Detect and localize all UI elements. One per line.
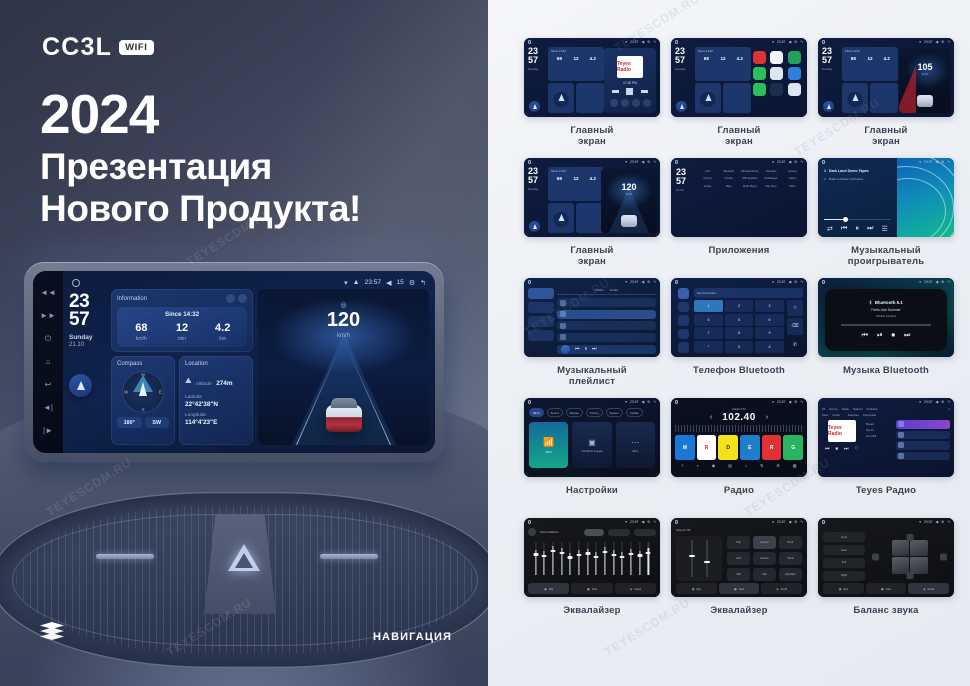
app-tile[interactable]: Maps (719, 183, 738, 188)
gallery-item[interactable]: 23 57 Sunday Since 14:32 68 12 4.2 (671, 38, 807, 158)
preset-button[interactable] (634, 529, 656, 536)
settings-tiles[interactable]: 📶 Wi-Fi ▣ Car Mirror Images ⋯ More (529, 422, 655, 468)
gallery-item[interactable]: 23 57 Sunday Since 14:32 68 12 4.2 (524, 158, 660, 278)
preset-rear[interactable]: Rear (823, 545, 865, 555)
subtab-favorites[interactable]: Favorites (848, 414, 859, 417)
thumbnail-bluetooth-phone[interactable]: Not Connected 1 2 3 4 5 6 7 (671, 278, 807, 357)
list-item[interactable] (557, 298, 656, 307)
compass-card[interactable]: Compass N E S W (111, 356, 175, 445)
eq-band[interactable] (584, 540, 591, 581)
chip-wifi[interactable]: Wi-Fi (529, 408, 544, 417)
gallery-item[interactable]: 23 57 Sunday Since 14:32 68 12 4.2 (818, 38, 954, 158)
phone-sidebar[interactable] (675, 288, 691, 353)
back-icon[interactable]: ↰ (653, 520, 656, 524)
tab-folder[interactable]: Folder (610, 288, 619, 292)
tab-all[interactable]: All (822, 408, 825, 411)
tab-podcasts[interactable]: Podcasts (867, 408, 878, 411)
gallery-item[interactable]: Tracks Folder ⏮ (524, 278, 660, 398)
app-tile[interactable]: Camera (783, 168, 802, 173)
next-station-icon[interactable]: › (766, 414, 768, 421)
list-item[interactable] (557, 333, 656, 342)
app-tile[interactable]: Radio (783, 183, 802, 188)
settings-icon[interactable]: ⚙ (776, 463, 780, 468)
playlist-tabs[interactable]: Tracks Folder (557, 288, 656, 295)
app-icon-contacts[interactable] (770, 67, 783, 80)
app-tile[interactable]: Gallery (783, 176, 802, 181)
app-tile[interactable]: DSP Equalizer (740, 176, 759, 181)
navigation-button[interactable] (69, 374, 92, 397)
call-icon[interactable]: ✆ (787, 337, 803, 353)
favorite-icon[interactable]: ☆ (787, 300, 803, 316)
tab-eq[interactable]: ◉EQ (676, 583, 717, 594)
back-icon[interactable]: ↰ (800, 400, 803, 404)
contacts-icon[interactable] (678, 302, 689, 313)
slider-treble[interactable] (706, 540, 708, 577)
balance-pad[interactable] (870, 532, 949, 581)
close-icon[interactable]: ✕ (948, 407, 950, 411)
tab-stations[interactable]: Stations (853, 408, 863, 411)
gallery-item[interactable]: Sound: Off Pop Classic Rock (671, 518, 807, 638)
search-icon[interactable]: ⌕ (697, 463, 699, 468)
gear-icon[interactable]: ⚙ (647, 160, 650, 164)
gallery-item[interactable]: 23 57 21.10 AUX Bluetooth Bluetooth Musi… (671, 158, 807, 278)
app-icon-spotify[interactable] (753, 67, 766, 80)
sidebar-item-favorite[interactable] (528, 316, 554, 327)
back-icon[interactable]: ↰ (800, 520, 803, 524)
tab-field[interactable]: ◈Field (761, 583, 802, 594)
eq-band[interactable] (627, 540, 634, 581)
preset-3[interactable]: D (718, 435, 738, 460)
gear-icon[interactable]: ⚙ (794, 400, 797, 404)
speaker-rear-left[interactable] (892, 557, 909, 573)
search-icon[interactable] (678, 315, 689, 326)
rail-key-seek-prev[interactable]: ◄| (43, 404, 53, 412)
playlist-icon[interactable]: ☰ (881, 225, 887, 233)
list-item[interactable] (896, 420, 950, 429)
app-icon-maps[interactable] (788, 51, 801, 64)
gallery-item[interactable]: 23 57 Sunday Since 14:32 68 12 4.2 (524, 38, 660, 158)
settings-icon[interactable] (678, 342, 689, 353)
gear-icon[interactable]: ⚙ (941, 40, 944, 44)
next-icon[interactable]: ⏭ (867, 225, 873, 233)
home-icon[interactable] (528, 520, 531, 523)
balance-up-button[interactable] (906, 534, 913, 541)
prev-icon[interactable]: ⏮ (825, 446, 830, 452)
preset-rock[interactable]: Rock (779, 536, 802, 549)
app-icon-settings[interactable] (770, 83, 783, 96)
back-icon[interactable]: ↰ (947, 520, 950, 524)
preset-grid[interactable]: Pop Classic Rock Jazz Custom Vocal Soft … (727, 536, 802, 581)
hardware-key-rail[interactable]: ◄◄ ►► ⏻ ⌂ ↩ ◄| |► (33, 271, 63, 453)
gear-icon[interactable]: ⚙ (794, 160, 797, 164)
back-icon[interactable]: ↰ (653, 160, 656, 164)
app-tile[interactable]: Chrome (698, 176, 717, 181)
prev-icon[interactable]: ⏮ (841, 225, 847, 233)
thumbnail-home-apps[interactable]: 23 57 Sunday Since 14:32 68 12 4.2 (671, 38, 807, 117)
balance-presets[interactable]: Front Rear Left Right (823, 532, 865, 581)
shortcut-3[interactable] (632, 99, 640, 107)
gear-icon[interactable]: ⚙ (794, 280, 797, 284)
speaker-quadrants[interactable] (892, 540, 928, 574)
shortcut-1[interactable] (610, 99, 618, 107)
back-icon[interactable]: ↰ (800, 280, 803, 284)
eq-band[interactable] (532, 540, 539, 581)
location-card[interactable]: Location ⛰ Altitude 274m (179, 356, 253, 445)
preset-2[interactable]: R (697, 435, 717, 460)
gallery-item[interactable]: 1 Dark Land Demo Tapes 2 Brahms Drake Or… (818, 158, 954, 278)
key-star[interactable]: * (694, 341, 723, 353)
thumbnail-bluetooth-music[interactable]: ᛒ Bluetooth 5.1 Feels Like Summer Childi… (818, 278, 954, 357)
list-icon[interactable]: ▦ (793, 463, 797, 468)
prev-icon[interactable]: ⏮ (862, 332, 868, 340)
teyes-controls[interactable]: ⏮ ⏹ ⏭ ♡ (822, 446, 862, 452)
equalizer-tabs[interactable]: ◉EQ ▣Fad ◈Field (823, 583, 949, 594)
chip-driving[interactable]: Driving (586, 408, 603, 417)
preset-left[interactable]: Left (823, 558, 865, 568)
preset-standard[interactable]: Standard (779, 568, 802, 581)
thumbnail-home-speed[interactable]: 23 57 Sunday Since 14:32 68 12 4.2 (524, 158, 660, 237)
stop-icon[interactable]: ⏹ (835, 446, 838, 452)
key-0[interactable]: 0 (725, 341, 754, 353)
thumbnail-settings[interactable]: Wi-Fi Sound Display Driving System Updat… (524, 398, 660, 477)
tile-wifi[interactable]: 📶 Wi-Fi (529, 422, 568, 468)
eq-band[interactable] (610, 540, 617, 581)
progress-knob[interactable] (843, 217, 848, 222)
preset-5[interactable]: R (762, 435, 782, 460)
eq-icon[interactable]: ⇅ (760, 463, 763, 468)
pause-icon[interactable]: ⏸ (585, 346, 588, 352)
rail-key-volume-down[interactable]: ◄◄ (40, 289, 56, 297)
chip-display[interactable]: Display (566, 408, 583, 417)
list-item[interactable] (557, 310, 656, 319)
stop-icon[interactable]: ⏹ (892, 332, 896, 340)
band-icon[interactable]: ≡ (681, 463, 683, 468)
rail-key-volume-up[interactable]: ►► (40, 312, 56, 320)
stop-icon[interactable] (626, 88, 633, 95)
thumbnail-playlist[interactable]: Tracks Folder ⏮ (524, 278, 660, 357)
save-button[interactable] (608, 529, 630, 536)
preset-soft[interactable]: Soft (727, 568, 750, 581)
mini-navigation-button[interactable] (529, 221, 540, 232)
now-playing-bar[interactable]: ⏮ ⏸ ⏭ (557, 345, 656, 354)
back-icon[interactable]: ↰ (653, 40, 656, 44)
app-icon-gallery[interactable] (770, 51, 783, 64)
tab-field[interactable]: ◈Field (908, 583, 949, 594)
key-3[interactable]: 3 (755, 300, 784, 312)
reset-button[interactable] (584, 529, 604, 536)
rail-key-home[interactable]: ⌂ (46, 358, 51, 366)
home-icon[interactable] (822, 280, 825, 283)
home-icon[interactable] (528, 280, 531, 283)
mini-navigation-button[interactable] (529, 101, 540, 112)
eq-band[interactable] (619, 540, 626, 581)
preset-pop[interactable]: Pop (727, 536, 750, 549)
playlist-sidebar[interactable] (528, 288, 554, 353)
back-icon[interactable]: ↰ (653, 280, 656, 284)
app-tile[interactable]: FileManager (762, 176, 781, 181)
eq-band[interactable] (567, 540, 574, 581)
preset-6[interactable]: G (783, 435, 803, 460)
gallery-item[interactable]: ᛒ Bluetooth 5.1 Feels Like Summer Childi… (818, 278, 954, 398)
layers-icon[interactable] (40, 622, 64, 642)
list-item[interactable] (557, 321, 656, 330)
speaker-rear-right[interactable] (910, 557, 927, 573)
app-icon-play-store[interactable] (753, 83, 766, 96)
rail-key-back[interactable]: ↩ (45, 381, 52, 389)
gear-icon[interactable]: ⚙ (647, 40, 650, 44)
next-icon[interactable]: ⏭ (592, 346, 597, 352)
app-tile[interactable]: Bluetooth Music (740, 168, 759, 173)
thumbnail-home-road[interactable]: 23 57 Sunday Since 14:32 68 12 4.2 (818, 38, 954, 117)
prev-station-icon[interactable]: ‹ (710, 414, 712, 421)
backspace-icon[interactable]: ⌫ (787, 318, 803, 334)
slider-bass[interactable] (691, 540, 693, 577)
volume-icon[interactable]: ◀ (386, 279, 391, 287)
key-6[interactable]: 6 (755, 314, 784, 326)
app-tile[interactable]: Play Store (762, 183, 781, 188)
subtab-likes[interactable]: Likes (822, 414, 828, 417)
preset-vocal[interactable]: Vocal (779, 552, 802, 565)
af-icon[interactable]: ◉ (712, 463, 716, 468)
media-controls[interactable] (608, 88, 652, 95)
prev-icon[interactable]: ⏮ (575, 346, 580, 352)
tab-fad[interactable]: ▣Fad (719, 583, 760, 594)
thumbnail-apps[interactable]: 23 57 21.10 AUX Bluetooth Bluetooth Musi… (671, 158, 807, 237)
mini-navigation-button[interactable] (823, 101, 834, 112)
home-icon[interactable] (822, 520, 825, 523)
eq-band[interactable] (558, 540, 565, 581)
prev-icon[interactable] (612, 90, 619, 92)
eq-band[interactable] (593, 540, 600, 581)
favorite-icon[interactable]: ♡ (854, 446, 858, 452)
preset-front[interactable]: Front (823, 532, 865, 542)
slider-knob[interactable] (689, 555, 695, 557)
key-hash[interactable]: # (755, 341, 784, 353)
equalizer-sliders[interactable] (528, 540, 656, 581)
dialpad-actions[interactable]: ☆ ⌫ ✆ (787, 300, 803, 353)
back-icon[interactable]: ↰ (653, 400, 656, 404)
tab-genres[interactable]: Genres (829, 408, 838, 411)
player-controls[interactable]: ⇄ ⏮ ⏸ ⏭ ☰ (823, 225, 892, 233)
radio-toolbar[interactable]: ≡ ⌕ ◉ ▤ ⌂ ⇅ ⚙ ▦ (675, 463, 803, 468)
tab-tracks[interactable]: Tracks (595, 288, 604, 292)
chip-update[interactable]: Update (626, 408, 643, 417)
subtab-downloads[interactable]: Downloads (863, 414, 876, 417)
home-icon[interactable] (675, 400, 678, 403)
mini-apps-widget[interactable] (750, 48, 804, 113)
thumbnail-equalizer-sliders[interactable]: Sound Effects (524, 518, 660, 597)
tab-eq[interactable]: ◉EQ (528, 583, 569, 594)
balance-down-button[interactable] (906, 572, 913, 579)
key-7[interactable]: 7 (694, 327, 723, 339)
eq-band[interactable] (541, 540, 548, 581)
app-tile[interactable]: Contact (719, 176, 738, 181)
home-icon[interactable] (675, 520, 678, 523)
home-icon[interactable] (528, 160, 531, 163)
preset-jazz[interactable]: Jazz (727, 552, 750, 565)
radio-tuner[interactable]: ‹ 102.40 › (675, 412, 803, 423)
app-tile[interactable]: Music Player (740, 183, 759, 188)
gear-icon[interactable]: ⚙ (794, 40, 797, 44)
preset-custom[interactable]: Custom (753, 552, 776, 565)
expand-icon[interactable] (238, 294, 247, 303)
teyes-station-list[interactable] (896, 420, 950, 460)
next-icon[interactable]: ⏭ (904, 332, 910, 340)
home-icon[interactable] (528, 400, 531, 403)
home-icon[interactable] (675, 40, 678, 43)
rail-key-seek-next[interactable]: |► (43, 427, 53, 435)
back-icon[interactable]: ↰ (947, 40, 950, 44)
eq-band[interactable] (645, 540, 652, 581)
call-history-icon[interactable] (678, 329, 689, 340)
shortcut-4[interactable] (643, 99, 651, 107)
key-5[interactable]: 5 (725, 314, 754, 326)
list-item[interactable] (896, 431, 950, 440)
bt-controls[interactable]: ⏮ ⏯ ⏹ ⏭ (862, 332, 911, 340)
balance-right-button[interactable] (940, 553, 947, 560)
app-icon-bluetooth[interactable] (788, 67, 801, 80)
shuffle-icon[interactable]: ⇄ (827, 225, 833, 233)
shortcut-2[interactable] (621, 99, 629, 107)
chip-sound[interactable]: Sound (547, 408, 563, 417)
list-item[interactable] (896, 452, 950, 461)
preset-classic[interactable]: Classic (753, 536, 776, 549)
thumbnail-sound-balance[interactable]: Front Rear Left Right (818, 518, 954, 597)
key-2[interactable]: 2 (725, 300, 754, 312)
play-pause-icon[interactable]: ⏯ (877, 332, 883, 340)
dialpad[interactable]: 1 2 3 4 5 6 7 8 9 * (694, 300, 784, 353)
bt-progress-slider[interactable] (841, 324, 931, 325)
playlist-rows[interactable] (557, 298, 656, 342)
back-icon[interactable]: ↰ (947, 160, 950, 164)
eq-band[interactable] (549, 540, 556, 581)
pause-icon[interactable]: ⏸ (855, 225, 859, 233)
app-tile[interactable]: Google (698, 183, 717, 188)
next-icon[interactable]: ⏭ (844, 446, 849, 452)
app-tile[interactable]: Calculator (762, 168, 781, 173)
progress-slider[interactable] (824, 219, 891, 220)
information-card[interactable]: Information Since 14:32 (111, 289, 253, 352)
speaker-front-right[interactable] (910, 540, 927, 556)
equalizer-tabs[interactable]: ◉EQ ▣Fad ◈Field (528, 583, 656, 594)
gear-icon[interactable]: ⚙ (941, 280, 944, 284)
next-icon[interactable] (641, 90, 648, 92)
fader-sliders[interactable] (676, 536, 722, 581)
key-4[interactable]: 4 (694, 314, 723, 326)
home-icon[interactable] (822, 160, 825, 163)
gear-icon[interactable]: ⚙ (647, 520, 650, 524)
preset-4[interactable]: E (740, 435, 760, 460)
key-9[interactable]: 9 (755, 327, 784, 339)
sidebar-item-tracks[interactable] (528, 288, 554, 299)
settings-chips[interactable]: Wi-Fi Sound Display Driving System Updat… (529, 408, 655, 417)
thumbnail-radio[interactable]: Radio FM ‹ 102.40 › M R D E R (671, 398, 807, 477)
list-item[interactable] (896, 441, 950, 450)
preset-1[interactable]: M (675, 435, 695, 460)
tab-radio[interactable]: Radio (842, 408, 849, 411)
tab-fad[interactable]: ▣Fad (866, 583, 907, 594)
balance-left-button[interactable] (872, 553, 879, 560)
head-unit-screen[interactable]: ◄◄ ►► ⏻ ⌂ ↩ ◄| |► ▾ ▲ (33, 271, 435, 453)
tab-fad[interactable]: ▣Fad (571, 583, 612, 594)
ta-icon[interactable]: ▤ (728, 463, 732, 468)
preset-flat[interactable]: Flat (753, 568, 776, 581)
home-icon[interactable] (675, 160, 678, 163)
apps-icon-grid[interactable]: AUX Bluetooth Bluetooth Music Calculator… (698, 168, 802, 233)
refresh-icon[interactable] (226, 294, 235, 303)
gear-icon[interactable]: ⚙ (647, 280, 650, 284)
thumbnail-music-player[interactable]: 1 Dark Land Demo Tapes 2 Brahms Drake Or… (818, 158, 954, 237)
gallery-item[interactable]: Sound Effects (524, 518, 660, 638)
home-icon[interactable] (822, 40, 825, 43)
gear-icon[interactable]: ⚙ (409, 279, 415, 287)
teyes-subtabs[interactable]: Likes Feeds Favorites Downloads (822, 414, 950, 417)
gear-icon[interactable]: ⚙ (941, 520, 944, 524)
thumbnail-teyes-radio[interactable]: All Genres Radio Stations Podcasts ✕ Lik… (818, 398, 954, 477)
media-shortcuts[interactable] (608, 99, 652, 107)
speaker-front-left[interactable] (892, 540, 909, 556)
gear-icon[interactable]: ⚙ (941, 160, 944, 164)
slider-knob[interactable] (704, 561, 710, 563)
back-icon[interactable]: ↰ (947, 400, 950, 404)
subtab-feeds[interactable]: Feeds (832, 414, 839, 417)
app-icon-youtube[interactable] (753, 51, 766, 64)
home-icon[interactable] (675, 280, 678, 283)
app-icon-all-apps[interactable] (788, 83, 801, 96)
gallery-item[interactable]: All Genres Radio Stations Podcasts ✕ Lik… (818, 398, 954, 518)
tab-field[interactable]: ◈Field (615, 583, 656, 594)
thumbnail-home-media[interactable]: 23 57 Sunday Since 14:32 68 12 4.2 (524, 38, 660, 117)
tuning-scale[interactable] (675, 425, 803, 432)
back-icon[interactable]: ↰ (800, 160, 803, 164)
gallery-item[interactable]: Not Connected 1 2 3 4 5 6 7 (671, 278, 807, 398)
tile-more[interactable]: ⋯ More (616, 422, 655, 468)
mini-navigation-button[interactable] (676, 101, 687, 112)
eq-band[interactable] (575, 540, 582, 581)
preset-right[interactable]: Right (823, 571, 865, 581)
back-icon[interactable]: ↰ (800, 40, 803, 44)
chip-system[interactable]: System (606, 408, 623, 417)
eq-band[interactable] (601, 540, 608, 581)
eq-band[interactable] (636, 540, 643, 581)
tab-eq[interactable]: ◉EQ (823, 583, 864, 594)
radio-presets[interactable]: M R D E R G (675, 435, 803, 460)
thumbnail-equalizer-presets[interactable]: Sound: Off Pop Classic Rock (671, 518, 807, 597)
driving-view-widget[interactable]: ◎ 120 km/h (258, 289, 429, 445)
equalizer-tabs[interactable]: ◉EQ ▣Fad ◈Field (676, 583, 802, 594)
tile-car-mirror[interactable]: ▣ Car Mirror Images (572, 422, 611, 468)
back-icon[interactable]: ↰ (420, 279, 426, 287)
gallery-item[interactable]: Wi-Fi Sound Display Driving System Updat… (524, 398, 660, 518)
sidebar-item-artists[interactable] (528, 330, 554, 341)
sidebar-item-all[interactable] (528, 302, 554, 313)
home-icon[interactable] (528, 40, 531, 43)
dialpad-icon[interactable] (678, 288, 689, 299)
app-tile[interactable]: AUX (698, 168, 717, 173)
gear-icon[interactable]: ⚙ (794, 520, 797, 524)
gallery-item[interactable]: Radio FM ‹ 102.40 › M R D E R (671, 398, 807, 518)
key-1[interactable]: 1 (694, 300, 723, 312)
app-tile[interactable]: Bluetooth (719, 168, 738, 173)
gear-icon[interactable]: ⚙ (941, 400, 944, 404)
gallery-item[interactable]: Front Rear Left Right (818, 518, 954, 638)
home-icon[interactable] (72, 279, 80, 287)
gear-icon[interactable]: ⚙ (647, 400, 650, 404)
rail-key-power[interactable]: ⏻ (45, 335, 51, 343)
key-8[interactable]: 8 (725, 327, 754, 339)
teyes-tabs[interactable]: All Genres Radio Stations Podcasts ✕ (822, 407, 950, 411)
loc-icon[interactable]: ⌂ (745, 463, 747, 468)
